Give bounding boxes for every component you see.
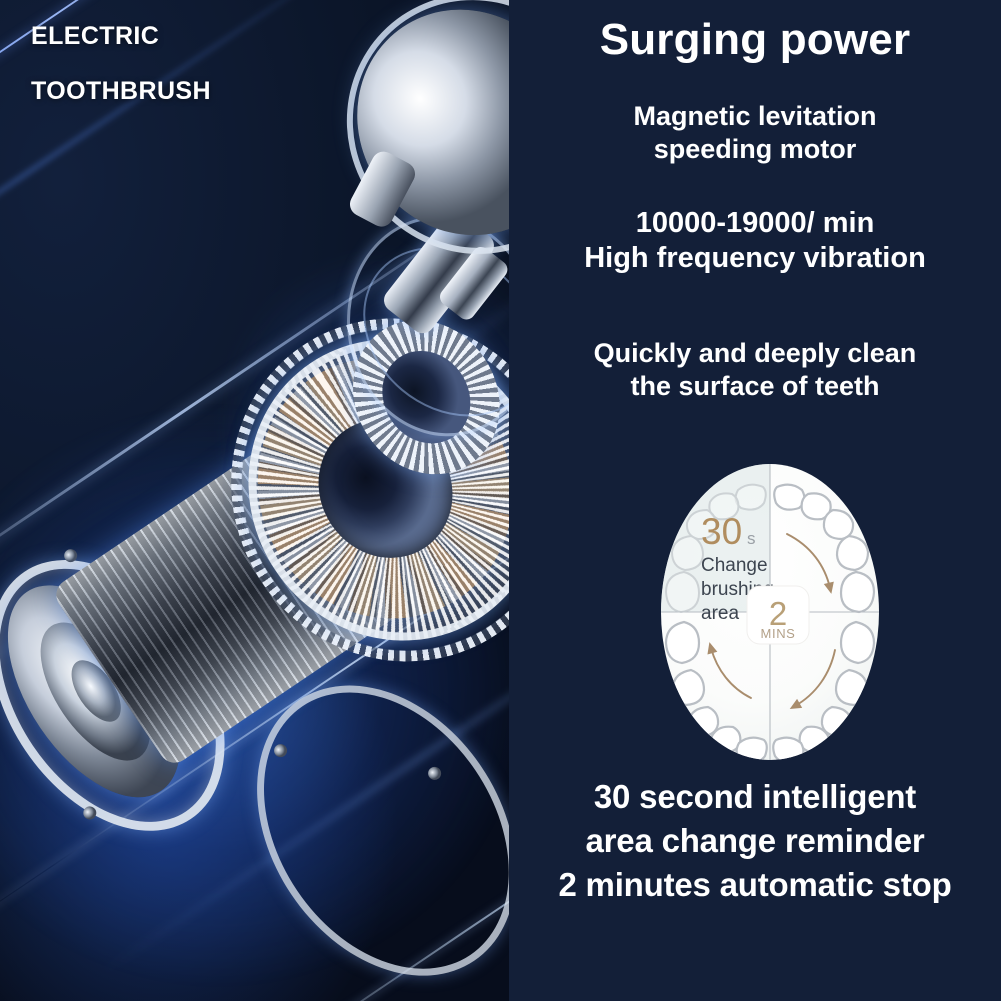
feature-clean-line-2: the surface of teeth [509, 370, 1001, 403]
panel-headline: Surging power [509, 18, 1001, 62]
feature-block-motor: Magnetic levitation speeding motor [509, 100, 1001, 166]
bottom-caption: 30 second intelligent area change remind… [479, 775, 1001, 907]
brushing-zone-diagram: 30 s Change brushing area 2 MINS [659, 462, 881, 762]
caption-line-3: 2 minutes automatic stop [479, 863, 1001, 907]
caption-line-1: 30 second intelligent [479, 775, 1001, 819]
caption-line-2: area change reminder [479, 819, 1001, 863]
motor-hero-image: ELECTRIC TOOTHBRUSH [0, 0, 509, 1001]
brand-title: ELECTRIC TOOTHBRUSH [31, 24, 211, 134]
product-poster: ELECTRIC TOOTHBRUSH Surging power Magnet… [0, 0, 1001, 1001]
timer-seconds-unit: s [747, 529, 756, 548]
minutes-badge-unit: MINS [761, 626, 796, 641]
feature-frequency-line-1: 10000-19000/ min [509, 206, 1001, 241]
feature-frequency-line-2: High frequency vibration [509, 241, 1001, 276]
feature-block-clean: Quickly and deeply clean the surface of … [509, 337, 1001, 403]
brushing-zone-svg: 30 s Change brushing area 2 MINS [659, 462, 881, 762]
timer-note-line-1: Change [701, 555, 768, 576]
feature-motor-line-1: Magnetic levitation [509, 100, 1001, 133]
timer-seconds-number: 30 [701, 511, 742, 552]
feature-block-frequency: 10000-19000/ min High frequency vibratio… [509, 206, 1001, 277]
feature-clean-line-1: Quickly and deeply clean [509, 337, 1001, 370]
feature-motor-line-2: speeding motor [509, 133, 1001, 166]
brand-line-2: TOOTHBRUSH [31, 79, 211, 104]
brand-line-1: ELECTRIC [31, 24, 211, 49]
timer-note-line-3: area [701, 603, 739, 624]
feature-panel: Surging power Magnetic levitation speedi… [509, 0, 1001, 1001]
